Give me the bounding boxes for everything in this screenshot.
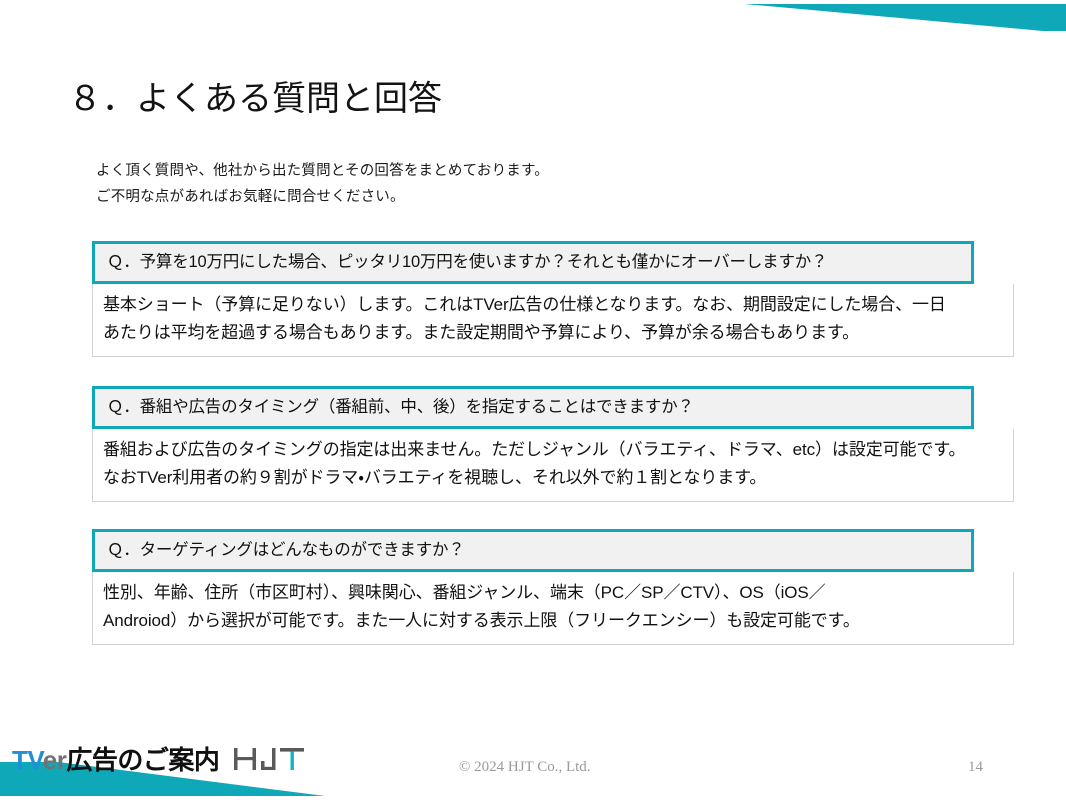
faq-answer-body: 性別、年齢、住所（市区町村）、興味関心、番組ジャンル、端末（PC／SP／CTV）… xyxy=(92,572,1014,645)
faq-answer-line: Androiod）から選択が可能です。また一人に対する表示上限（フリークエンシー… xyxy=(103,607,1005,635)
copyright-text: © 2024 HJT Co., Ltd. xyxy=(459,757,591,777)
hjt-logo-icon xyxy=(233,745,305,775)
slide-root: ８．よくある質問と回答 よく頂く質問や、他社から出た質問とその回答をまとめており… xyxy=(0,0,1066,800)
faq-item: Ｑ．予算を10万円にした場合、ピッタリ10万円を使いますか？それとも僅かにオーバ… xyxy=(92,241,1014,357)
faq-answer-line: なおTVer利用者の約９割がドラマ・バラエティを視聴し、それ以外で約１割となりま… xyxy=(103,464,1005,492)
faq-answer-line: 基本ショート（予算に足りない）します。これはTVer広告の仕様となります。なお、… xyxy=(103,291,1005,319)
page-number: 14 xyxy=(968,757,983,777)
lead-line-1: よく頂く質問や、他社から出た質問とその回答をまとめております。 xyxy=(96,158,549,184)
top-accent-shape xyxy=(0,0,1066,40)
faq-question-header: Ｑ．予算を10万円にした場合、ピッタリ10万円を使いますか？それとも僅かにオーバ… xyxy=(92,241,974,284)
tver-wordmark-er: er xyxy=(43,745,67,775)
tver-wordmark-jp: 広告のご案内 xyxy=(66,745,219,775)
lead-paragraph: よく頂く質問や、他社から出た質問とその回答をまとめております。 ご不明な点があれ… xyxy=(96,158,549,210)
lead-line-2: ご不明な点があればお気軽に問合せください。 xyxy=(96,184,549,210)
faq-answer-line: あたりは平均を超過する場合もあります。また設定期間や予算により、予算が余る場合も… xyxy=(103,319,1005,347)
faq-answer-body: 番組および広告のタイミングの指定は出来ません。ただしジャンル（バラエティ、ドラマ… xyxy=(92,429,1014,502)
footer-branding: TVer広告のご案内 xyxy=(12,745,305,775)
tver-wordmark: TVer広告のご案内 xyxy=(12,745,219,775)
faq-question-header: Ｑ．番組や広告のタイミング（番組前、中、後）を指定することはできますか？ xyxy=(92,386,974,429)
faq-answer-line: 性別、年齢、住所（市区町村）、興味関心、番組ジャンル、端末（PC／SP／CTV）… xyxy=(103,579,1005,607)
faq-answer-line: 番組および広告のタイミングの指定は出来ません。ただしジャンル（バラエティ、ドラマ… xyxy=(103,436,1005,464)
faq-item: Ｑ．ターゲティングはどんなものができますか？ 性別、年齢、住所（市区町村）、興味… xyxy=(92,529,1014,645)
tver-wordmark-tv: TV xyxy=(12,745,43,775)
page-title: ８．よくある質問と回答 xyxy=(68,79,442,119)
faq-question-header: Ｑ．ターゲティングはどんなものができますか？ xyxy=(92,529,974,572)
faq-answer-body: 基本ショート（予算に足りない）します。これはTVer広告の仕様となります。なお、… xyxy=(92,284,1014,357)
faq-item: Ｑ．番組や広告のタイミング（番組前、中、後）を指定することはできますか？ 番組お… xyxy=(92,386,1014,502)
